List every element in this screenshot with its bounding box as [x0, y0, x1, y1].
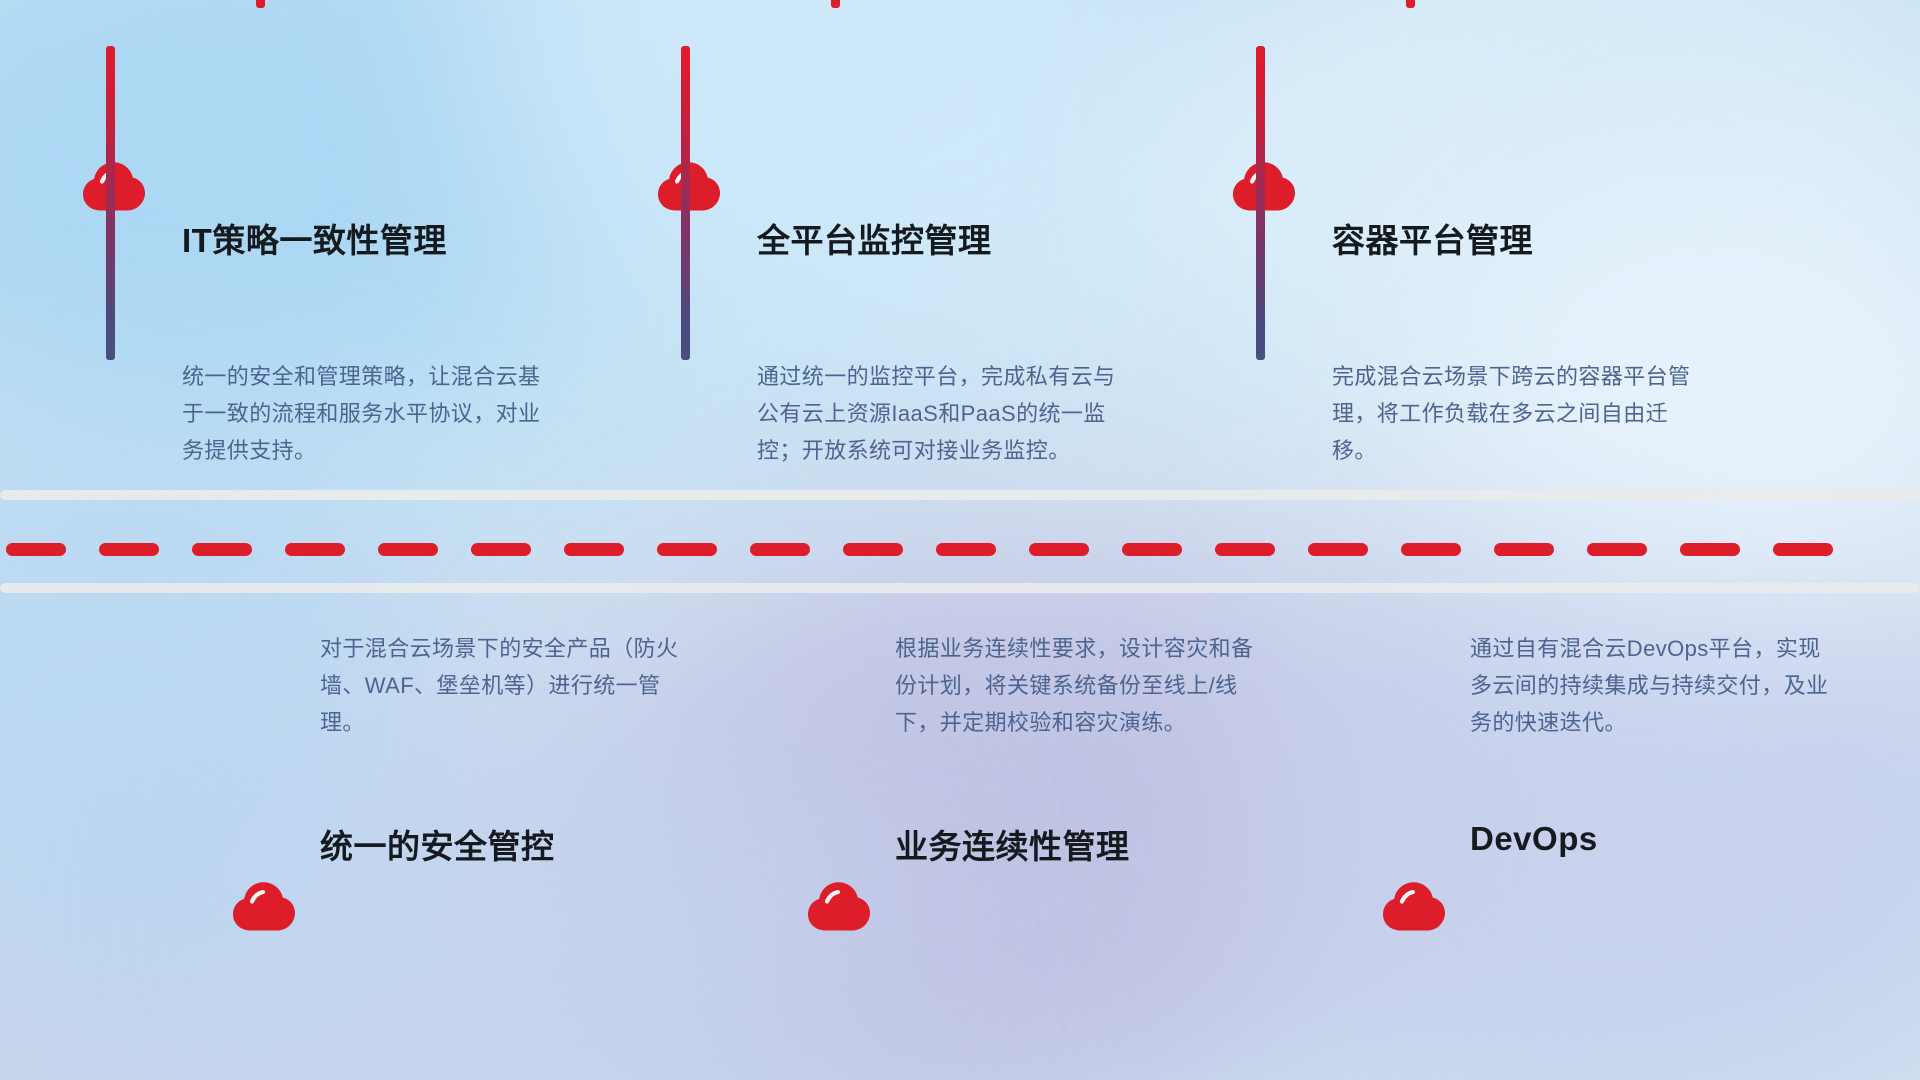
- dash-segment: [1215, 543, 1275, 556]
- card-body: 根据业务连续性要求，设计容灾和备份计划，将关键系统备份至线上/线下，并定期校验和…: [895, 630, 1267, 741]
- divider-rule-top: [0, 490, 1920, 500]
- dash-segment: [1401, 543, 1461, 556]
- background-blob: [470, 0, 1190, 320]
- connector-stem: [1256, 46, 1265, 360]
- dash-segment: [285, 543, 345, 556]
- card-title: IT策略一致性管理: [182, 214, 447, 262]
- card-body: 完成混合云场景下跨云的容器平台管理，将工作负载在多云之间自由迁移。: [1332, 358, 1704, 469]
- dash-segment: [1773, 543, 1833, 556]
- dashed-separator: [0, 543, 1920, 556]
- dash-segment: [192, 543, 252, 556]
- dash-segment: [1308, 543, 1368, 556]
- cloud-marker: [1230, 160, 1302, 212]
- infographic-canvas: IT策略一致性管理 统一的安全和管理策略，让混合云基于一致的流程和服务水平协议，…: [0, 0, 1920, 1080]
- connector-stem: [256, 0, 265, 8]
- dash-segment: [1122, 543, 1182, 556]
- divider-rule-bottom: [0, 583, 1920, 593]
- dash-segment: [564, 543, 624, 556]
- cloud-marker: [80, 160, 152, 212]
- dash-segment: [750, 543, 810, 556]
- dash-segment: [1494, 543, 1554, 556]
- connector-stem: [1406, 0, 1415, 8]
- cloud-icon: [230, 880, 296, 932]
- dash-segment: [1680, 543, 1740, 556]
- background-blob: [1230, 520, 1920, 1080]
- card-title: 统一的安全管控: [320, 820, 555, 868]
- cloud-icon: [805, 880, 871, 932]
- dash-segment: [657, 543, 717, 556]
- cloud-marker: [230, 880, 302, 932]
- cloud-icon: [1380, 880, 1446, 932]
- dash-segment: [843, 543, 903, 556]
- card-title: DevOps: [1470, 820, 1598, 858]
- dash-segment: [1029, 543, 1089, 556]
- card-title: 全平台监控管理: [757, 214, 992, 262]
- dash-segment: [936, 543, 996, 556]
- card-title: 容器平台管理: [1332, 214, 1533, 262]
- card-body: 通过自有混合云DevOps平台，实现多云间的持续集成与持续交付，及业务的快速迭代…: [1470, 630, 1842, 741]
- background-blob: [240, 690, 880, 1080]
- dash-segment: [1587, 543, 1647, 556]
- card-body: 通过统一的监控平台，完成私有云与公有云上资源IaaS和PaaS的统一监控；开放系…: [757, 358, 1129, 469]
- dash-segment: [6, 543, 66, 556]
- cloud-marker: [805, 880, 877, 932]
- dash-segment: [378, 543, 438, 556]
- connector-stem: [681, 46, 690, 360]
- connector-stem: [831, 0, 840, 8]
- dash-segment: [99, 543, 159, 556]
- cloud-marker: [655, 160, 727, 212]
- cloud-marker: [1380, 880, 1452, 932]
- connector-stem: [106, 46, 115, 360]
- card-body: 对于混合云场景下的安全产品（防火墙、WAF、堡垒机等）进行统一管理。: [320, 630, 692, 741]
- dash-segment: [471, 543, 531, 556]
- card-body: 统一的安全和管理策略，让混合云基于一致的流程和服务水平协议，对业务提供支持。: [182, 358, 554, 469]
- card-title: 业务连续性管理: [895, 820, 1130, 868]
